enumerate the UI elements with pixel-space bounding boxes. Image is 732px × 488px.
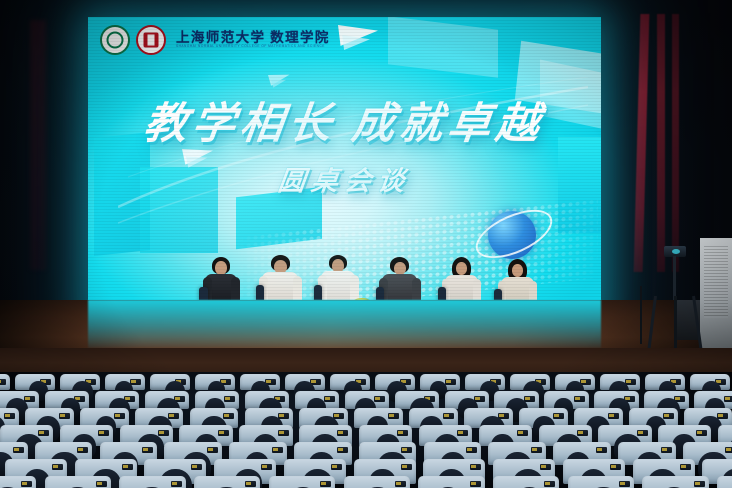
seat-number-tag xyxy=(130,379,141,385)
seat-number-tag xyxy=(574,396,585,402)
seat-number-tag xyxy=(98,430,109,436)
seat-number-tag xyxy=(272,447,283,453)
seat-number-tag xyxy=(397,430,408,436)
seat-number-tag xyxy=(261,464,272,470)
side-curtain-right xyxy=(657,14,665,272)
side-curtain-right xyxy=(672,14,679,272)
seat-number-tag xyxy=(395,481,406,487)
seat-number-tag xyxy=(324,396,335,402)
side-curtain-left xyxy=(30,20,46,270)
seat-number-tag xyxy=(553,413,564,419)
seat-number-tag xyxy=(142,447,153,453)
seat-number-tag xyxy=(577,430,588,436)
seat-number-tag xyxy=(445,379,456,385)
seat-number-tag xyxy=(224,396,235,402)
seat-number-tag xyxy=(694,481,705,487)
seat-number-tag xyxy=(59,413,70,419)
seat-number-tag xyxy=(114,413,125,419)
seat-number-tag xyxy=(531,447,542,453)
seat-number-tag xyxy=(13,447,24,453)
seat-number-tag xyxy=(122,464,133,470)
seat-number-tag xyxy=(0,379,6,385)
seat-number-tag xyxy=(96,481,107,487)
camera-lens-icon xyxy=(672,249,680,254)
institution-name-block: 上海师范大学 数理学院 SHANGHAI NORMAL UNIVERSITY C… xyxy=(176,31,330,49)
screen-reflection xyxy=(88,300,601,348)
audience-seat xyxy=(0,374,10,390)
seat-number-tag xyxy=(223,413,234,419)
seat-number-tag xyxy=(540,464,551,470)
seat-number-tag xyxy=(725,447,732,453)
seat-number-tag xyxy=(596,447,607,453)
seat-number-tag xyxy=(470,481,481,487)
seat-number-tag xyxy=(337,430,348,436)
seat-number-tag xyxy=(401,447,412,453)
seat-number-tag xyxy=(374,396,385,402)
seat-number-tag xyxy=(388,413,399,419)
seat-number-tag xyxy=(278,430,289,436)
seat-number-tag xyxy=(443,413,454,419)
seat-number-tag xyxy=(608,413,619,419)
seat-number-tag xyxy=(663,413,674,419)
seat-number-tag xyxy=(401,464,412,470)
led-backdrop-screen: 上海师范大学 数理学院 SHANGHAI NORMAL UNIVERSITY C… xyxy=(88,17,601,347)
seat-number-tag xyxy=(77,447,88,453)
seat-number-tag xyxy=(52,464,63,470)
seat-number-tag xyxy=(696,430,707,436)
seat-number-tag xyxy=(637,430,648,436)
mic-stand xyxy=(640,286,642,344)
audience-seat xyxy=(717,476,732,488)
seat-number-tag xyxy=(24,396,35,402)
seat-number-tag xyxy=(661,447,672,453)
seat-number-tag xyxy=(610,464,621,470)
seat-number-tag xyxy=(168,413,179,419)
seat-number-tag xyxy=(619,481,630,487)
seat-number-tag xyxy=(680,464,691,470)
snu-seal-red-logo xyxy=(136,25,166,55)
seat-number-tag xyxy=(457,430,468,436)
event-title-sub: 圆桌会谈 xyxy=(88,159,601,198)
audience-seat xyxy=(418,476,484,488)
seat-number-tag xyxy=(171,481,182,487)
seat-number-tag xyxy=(320,481,331,487)
seat-number-tag xyxy=(466,447,477,453)
seat-number-tag xyxy=(717,413,728,419)
institution-name-en: SHANGHAI NORMAL UNIVERSITY COLLEGE OF MA… xyxy=(176,45,330,49)
seat-number-tag xyxy=(158,430,169,436)
seat-number-tag xyxy=(724,396,732,402)
event-title-main: 教学相长 成就卓越 xyxy=(88,89,601,151)
seat-number-tag xyxy=(191,464,202,470)
seat-number-tag xyxy=(245,481,256,487)
seat-number-tag xyxy=(207,447,218,453)
seat-number-tag xyxy=(218,430,229,436)
seat-number-tag xyxy=(517,430,528,436)
audience-area xyxy=(0,372,732,488)
audience-row xyxy=(0,476,732,488)
auditorium-event-photo: 上海师范大学 数理学院 SHANGHAI NORMAL UNIVERSITY C… xyxy=(0,0,732,488)
seat-number-tag xyxy=(331,464,342,470)
seat-number-tag xyxy=(544,481,555,487)
seat-number-tag xyxy=(278,413,289,419)
snu-seal-green-logo xyxy=(100,25,130,55)
seat-number-tag xyxy=(4,413,15,419)
seat-number-tag xyxy=(470,464,481,470)
seat-number-tag xyxy=(38,430,49,436)
seat-number-tag xyxy=(337,447,348,453)
screen-header-band: 上海师范大学 数理学院 SHANGHAI NORMAL UNIVERSITY C… xyxy=(88,17,601,63)
seat-number-tag xyxy=(21,481,32,487)
